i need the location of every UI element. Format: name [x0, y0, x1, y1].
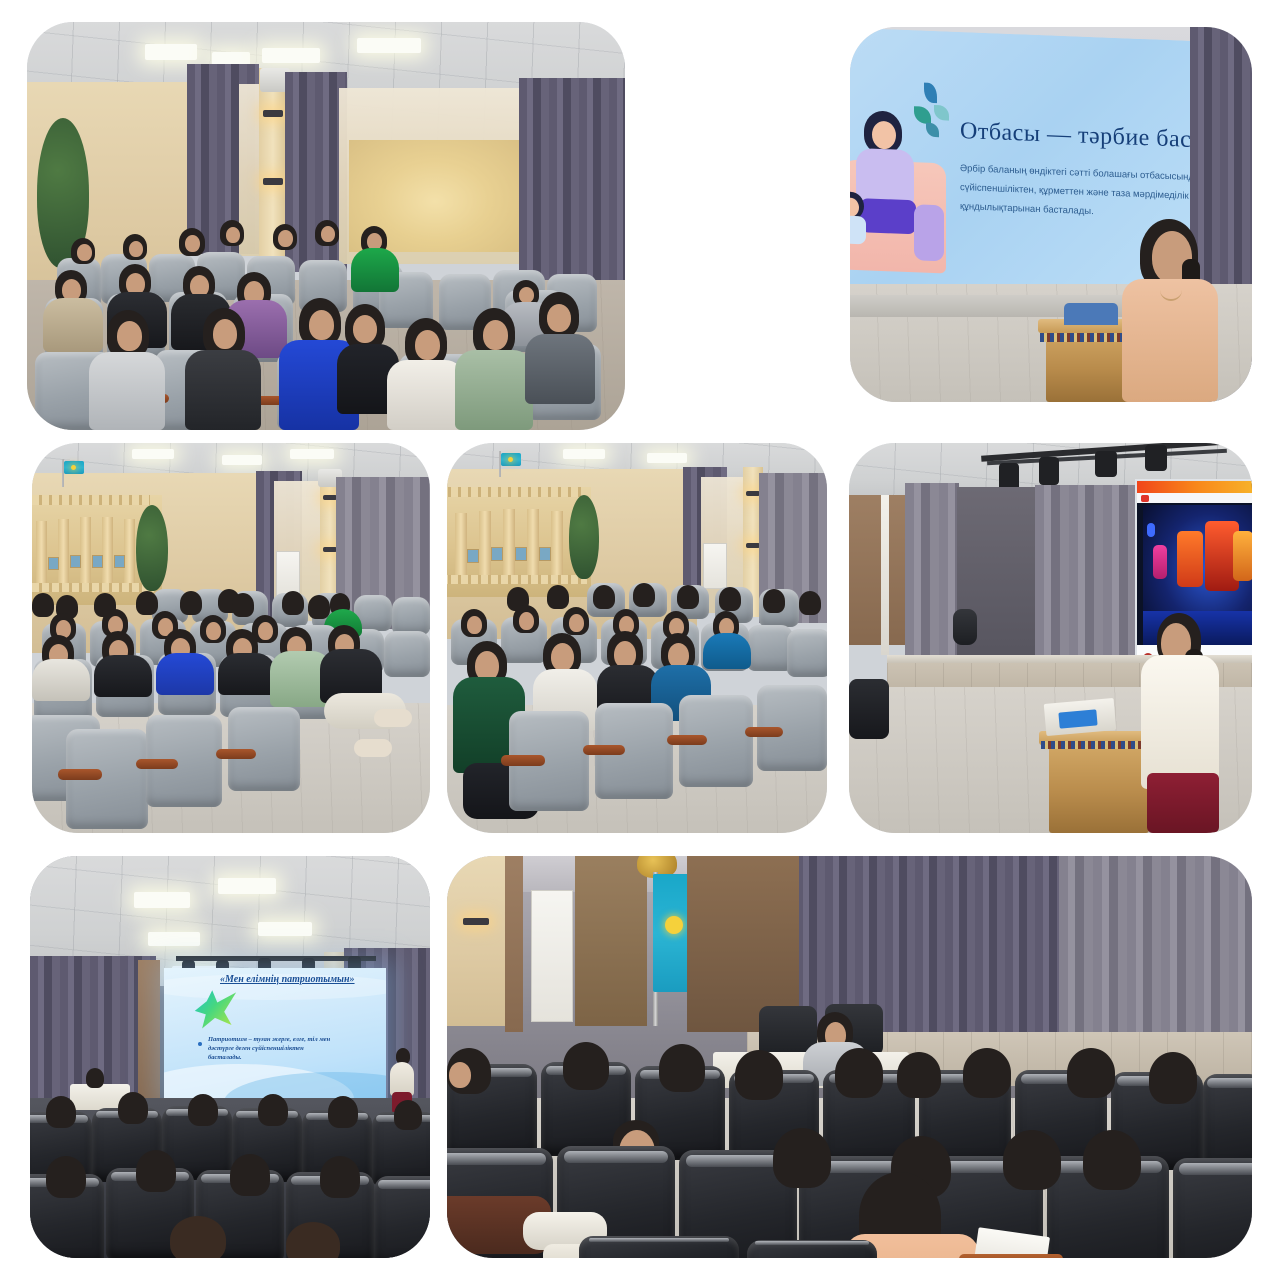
mural-column [503, 509, 515, 577]
person-head [170, 1216, 226, 1258]
stage-spotlight [1145, 445, 1167, 471]
person-head [328, 1096, 358, 1128]
wall-sconce [746, 543, 760, 548]
seat-armrest [216, 749, 256, 759]
person-face [614, 641, 636, 668]
person-head [1083, 1130, 1141, 1190]
person-torso [525, 334, 595, 404]
mural-window [70, 555, 81, 568]
person-head [719, 587, 741, 611]
seat-armrest [136, 759, 178, 769]
mural-column [527, 509, 539, 577]
person-face [309, 310, 334, 340]
seat [579, 1236, 739, 1258]
person-face [117, 321, 142, 351]
person-head [180, 591, 202, 615]
scene-audience-mural-left [32, 443, 430, 833]
podium [1049, 743, 1149, 833]
mural-window [48, 557, 59, 570]
stage-curtain-center [1035, 485, 1143, 671]
stage-curtain-left [905, 483, 959, 661]
person-torso [156, 653, 214, 695]
lighting-truss [176, 956, 376, 961]
person-head [86, 1068, 104, 1088]
panel-bottom-left-hall[interactable]: «Мен елімнің патриотымын» Патриотизм – т… [30, 856, 430, 1258]
person-torso [455, 350, 533, 430]
person-face [185, 235, 200, 252]
person-face [467, 616, 482, 634]
ceiling-lamp [145, 44, 197, 60]
person-head [32, 593, 54, 617]
seat [1173, 1158, 1252, 1258]
seat [392, 597, 430, 635]
person-face [551, 643, 574, 671]
mural-column [80, 517, 91, 585]
person-face [483, 320, 508, 350]
person-face [569, 614, 584, 632]
person-head [835, 1048, 883, 1098]
person-torso [185, 350, 261, 430]
person-head [659, 1044, 705, 1092]
person-head [282, 591, 304, 615]
person-head [46, 1096, 76, 1128]
mural-column [551, 511, 563, 577]
panel-mid-right-stage[interactable] [849, 443, 1252, 833]
panel-top-right-speaker[interactable]: Отбасы — тәрбие бастау Әрбір баланың өнд… [850, 27, 1252, 402]
slide-patriot-title: «Мен елімнің патриотымын» [220, 974, 355, 985]
stage-spotlight [1039, 457, 1059, 485]
person-face [353, 315, 377, 343]
flag-sun-icon [71, 465, 76, 470]
papers-highlight [1058, 709, 1097, 728]
seat-armrest [667, 735, 707, 745]
display-app-icon [1141, 495, 1149, 502]
person-head [963, 1048, 1011, 1098]
person-head [1149, 1052, 1197, 1104]
wall-panel [138, 960, 160, 1104]
person-torso [32, 659, 90, 701]
mural-window [491, 547, 503, 561]
wall-sconce [746, 491, 760, 496]
person-face [547, 304, 571, 332]
person-torso [387, 360, 465, 430]
ceiling-lamp [647, 453, 687, 463]
decor-plant [136, 505, 168, 591]
person-face [278, 230, 293, 247]
person-torso [703, 633, 751, 669]
mural-window [114, 555, 125, 568]
office-chair [849, 679, 889, 739]
person-face [415, 330, 440, 360]
mural-cornice [447, 487, 581, 497]
person-face [321, 226, 335, 242]
seat-armrest [583, 745, 625, 755]
scene-speaker-family-slide: Отбасы — тәрбие бастау Әрбір баланың өнд… [850, 27, 1252, 402]
mural-cornice [32, 495, 150, 505]
person-torso [43, 298, 103, 352]
mural-column [36, 521, 47, 585]
person-head [188, 1094, 218, 1126]
podium-ornament-band [1041, 741, 1153, 749]
mural-column [479, 511, 491, 577]
info-stand [531, 890, 573, 1022]
seat-armrest [501, 755, 545, 766]
stage-chair [953, 609, 977, 645]
wall-sconce [463, 918, 489, 925]
person-torso [218, 653, 276, 695]
flag-sun-icon [665, 916, 683, 934]
wall-sconce [323, 547, 337, 552]
person-face [258, 622, 273, 640]
ceiling-lamp [148, 932, 200, 946]
wall-sconce [263, 178, 283, 185]
mural-column [102, 517, 113, 585]
ceiling-lamp [218, 878, 276, 894]
mural-column [455, 513, 467, 577]
wall-left [447, 856, 509, 1026]
wall-door [575, 856, 647, 1026]
scene-stage-with-screen [849, 443, 1252, 833]
projection-screen-patriot: «Мен елімнің патриотымын» Патриотизм – т… [164, 968, 386, 1102]
wall-light-strip [881, 495, 889, 655]
person-head [773, 1128, 831, 1188]
mural-window [467, 549, 479, 563]
person-head [136, 1150, 176, 1192]
person-face [519, 612, 534, 630]
seat [374, 1176, 430, 1258]
panel-mid-center-audience[interactable] [447, 443, 827, 833]
seat-armrest [58, 769, 102, 780]
person-head [46, 1156, 86, 1198]
mural-base [32, 583, 154, 592]
ceiling-lamp [132, 449, 174, 459]
ceiling-lamp [134, 892, 190, 908]
person-head [394, 1100, 422, 1130]
person-head [763, 589, 785, 613]
mural-window [515, 547, 527, 561]
mural-base [447, 575, 587, 584]
display-top-bar [1137, 481, 1252, 493]
person-head [118, 1092, 148, 1124]
scene-auditorium-wide [27, 22, 625, 430]
person-torso [89, 352, 165, 430]
person-face [213, 319, 237, 349]
seat-armrest [959, 1254, 1063, 1258]
mural-window [539, 547, 551, 561]
person-head [897, 1052, 941, 1098]
decor-plant [569, 495, 599, 579]
illustration-mother-and-child [850, 105, 950, 289]
bullet-point [198, 1042, 202, 1046]
ceiling-lamp [357, 38, 421, 53]
wall-panel-left [849, 495, 907, 645]
person-head [799, 591, 821, 615]
mural-window [92, 555, 103, 568]
mural-column [58, 519, 69, 585]
person-head [258, 1094, 288, 1126]
flag-sun-icon [508, 457, 513, 462]
person-face [206, 622, 221, 640]
seat [384, 631, 430, 677]
ceiling-lamp [563, 449, 605, 459]
photo-collage: Отбасы — тәрбие бастау Әрбір баланың өнд… [0, 0, 1280, 1280]
person-head [547, 585, 569, 609]
wall-sconce [263, 110, 283, 117]
ceiling-lamp [262, 48, 320, 63]
seat-armrest [745, 727, 783, 737]
person-head [593, 585, 615, 609]
seat [787, 629, 827, 677]
person-head [677, 585, 699, 609]
person-head [320, 1156, 360, 1198]
person-face [77, 244, 92, 261]
stage-curtain-far-right [1059, 856, 1252, 1042]
ceiling-lamp [222, 455, 262, 465]
person-head [1067, 1048, 1115, 1098]
person-head [232, 593, 254, 617]
person-face [226, 227, 240, 243]
person-face [449, 1062, 471, 1088]
panel-bottom-right-audience[interactable] [447, 856, 1252, 1258]
person-head [308, 595, 330, 619]
panel-top-left-audience[interactable] [27, 22, 625, 430]
display-toolbar [1137, 493, 1252, 503]
stage-spotlight [1095, 451, 1117, 477]
seat [747, 1240, 877, 1258]
podium-papers [1064, 303, 1118, 325]
person-head [1003, 1130, 1061, 1190]
scene-audience-mural-right [447, 443, 827, 833]
ceiling-lamp [258, 922, 312, 936]
person-head [563, 1042, 609, 1090]
whiteboard [276, 551, 300, 597]
shoe [374, 709, 412, 727]
person-head [735, 1050, 783, 1100]
mural-column [124, 519, 135, 585]
person-head [136, 591, 158, 615]
person-torso [351, 248, 399, 292]
person-head [230, 1154, 270, 1196]
ceiling-lamp [290, 449, 334, 459]
slide-patriot-text: Патриотизм – туған жерге, елге, тіл мен … [208, 1036, 338, 1062]
panel-mid-left-audience[interactable] [32, 443, 430, 833]
scene-audience-dark-seats [447, 856, 1252, 1258]
person-torso [94, 655, 152, 697]
shoe [354, 739, 392, 757]
whiteboard [703, 543, 727, 589]
scene-hall-rear-patriot-slide: «Мен елімнің патриотымын» Патриотизм – т… [30, 856, 430, 1258]
person-face [519, 287, 534, 303]
wall-sconce [323, 495, 337, 500]
wall-panel [505, 856, 523, 1032]
person-face [129, 241, 143, 257]
person-head [633, 583, 655, 607]
